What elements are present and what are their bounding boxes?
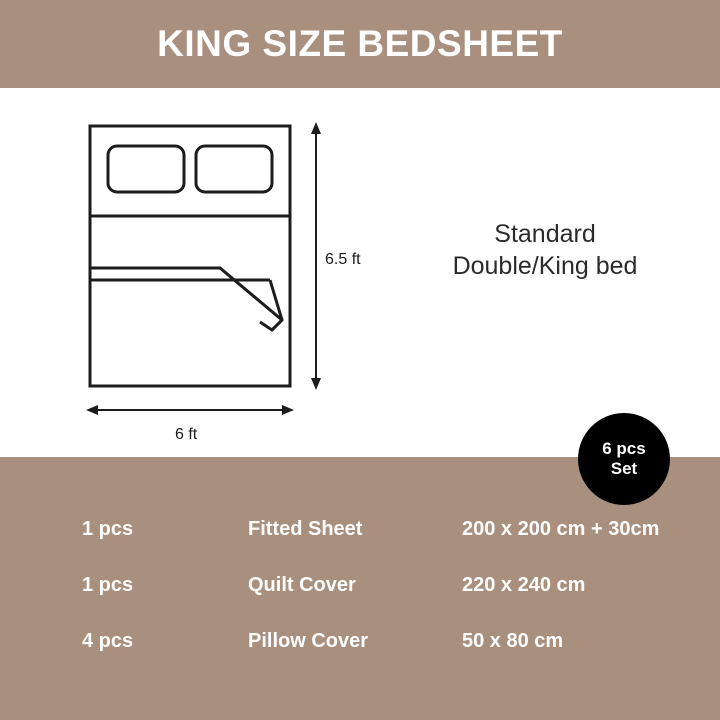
product-info-graphic: KING SIZE BEDSHEET 6.5 ft 6 ft <box>0 0 720 720</box>
bed-caption-line1: Standard <box>400 218 690 250</box>
table-row: 1 pcs Fitted Sheet 200 x 200 cm + 30cm <box>0 501 720 557</box>
table-row: 1 pcs Quilt Cover 220 x 240 cm <box>0 557 720 613</box>
contents-table: 1 pcs Fitted Sheet 200 x 200 cm + 30cm 1… <box>0 501 720 669</box>
header-banner: KING SIZE BEDSHEET <box>0 0 720 88</box>
row-item: Pillow Cover <box>248 630 448 653</box>
bed-height-label: 6.5 ft <box>325 251 361 269</box>
bed-type-caption: Standard Double/King bed <box>400 218 690 282</box>
page-title: KING SIZE BEDSHEET <box>157 23 563 65</box>
bed-caption-line2: Double/King bed <box>400 250 690 282</box>
bed-diagram-icon <box>60 108 400 448</box>
bed-width-label: 6 ft <box>175 426 197 444</box>
row-quantity: 1 pcs <box>82 574 202 597</box>
row-size: 200 x 200 cm + 30cm <box>462 518 712 541</box>
row-quantity: 1 pcs <box>82 518 202 541</box>
diagram-area: 6.5 ft 6 ft Standard Double/King bed <box>0 88 720 457</box>
row-size: 50 x 80 cm <box>462 630 712 653</box>
badge-line-2: Set <box>611 459 637 479</box>
set-count-badge: 6 pcs Set <box>578 413 670 505</box>
row-item: Quilt Cover <box>248 574 448 597</box>
row-size: 220 x 240 cm <box>462 574 712 597</box>
row-quantity: 4 pcs <box>82 630 202 653</box>
table-row: 4 pcs Pillow Cover 50 x 80 cm <box>0 613 720 669</box>
row-item: Fitted Sheet <box>248 518 448 541</box>
badge-line-1: 6 pcs <box>602 439 645 459</box>
